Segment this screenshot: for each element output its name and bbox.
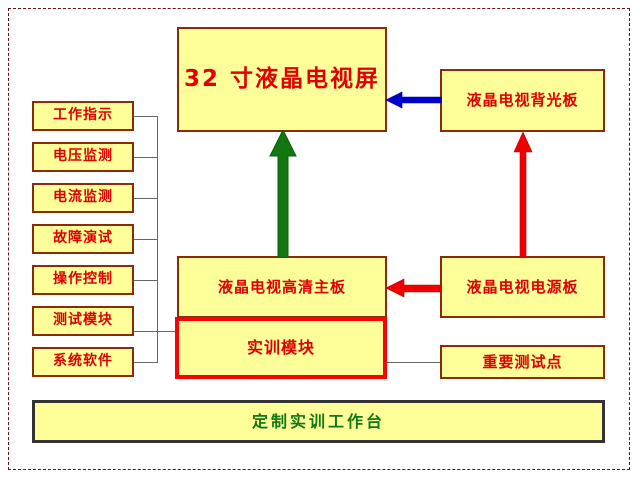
lead-sidebar-stub-1 — [134, 116, 158, 117]
sidebar-item-operation-control[interactable]: 操作控制 — [32, 265, 134, 295]
arrow-power-to-mainboard — [386, 277, 442, 299]
lead-sidebar-stub-4 — [134, 239, 158, 240]
lead-sidebar-to-training-module — [134, 331, 179, 332]
sidebar-item-voltage-monitor[interactable]: 电压监测 — [32, 142, 134, 172]
arrow-mainboard-to-screen — [268, 130, 298, 258]
node-label: 实训模块 — [247, 339, 315, 357]
sidebar-item-label: 工作指示 — [53, 108, 113, 123]
node-workbench[interactable]: 定制实训工作台 — [32, 400, 605, 443]
sidebar-item-current-monitor[interactable]: 电流监测 — [32, 183, 134, 213]
node-label: 定制实训工作台 — [252, 413, 385, 431]
lead-sidebar-stub-5 — [134, 280, 158, 281]
node-label: 液晶电视电源板 — [466, 279, 578, 296]
node-test-points[interactable]: 重要测试点 — [440, 345, 605, 379]
sidebar-item-label: 电流监测 — [53, 190, 113, 205]
node-power-board[interactable]: 液晶电视电源板 — [440, 256, 605, 318]
sidebar-item-label: 故障演试 — [53, 231, 113, 246]
node-label: 32 寸液晶电视屏 — [184, 67, 380, 92]
lead-training-module-to-test-points — [387, 362, 440, 363]
lead-sidebar-stub-7 — [134, 362, 158, 363]
sidebar-item-fault-demo[interactable]: 故障演试 — [32, 224, 134, 254]
sidebar-item-label: 电压监测 — [53, 149, 113, 164]
node-label: 液晶电视高清主板 — [218, 279, 346, 296]
lead-sidebar-stub-3 — [134, 198, 158, 199]
arrow-power-to-backlight — [512, 132, 534, 258]
node-tv-screen[interactable]: 32 寸液晶电视屏 — [177, 27, 387, 132]
lead-sidebar-spine — [157, 116, 158, 363]
sidebar-item-label: 测试模块 — [53, 313, 113, 328]
diagram-canvas: 工作指示 电压监测 电流监测 故障演试 操作控制 测试模块 系统软件 32 寸液… — [0, 0, 640, 480]
sidebar-item-label: 操作控制 — [53, 272, 113, 287]
node-backlight-board[interactable]: 液晶电视背光板 — [440, 69, 605, 132]
sidebar-item-system-software[interactable]: 系统软件 — [32, 347, 134, 377]
node-training-module[interactable]: 实训模块 — [175, 317, 387, 379]
sidebar-item-test-module[interactable]: 测试模块 — [32, 306, 134, 336]
node-label: 重要测试点 — [482, 354, 562, 371]
sidebar-item-work-indicator[interactable]: 工作指示 — [32, 101, 134, 131]
arrow-backlight-to-screen — [386, 90, 442, 110]
lead-sidebar-stub-2 — [134, 157, 158, 158]
node-label: 液晶电视背光板 — [466, 92, 578, 109]
sidebar-item-label: 系统软件 — [53, 354, 113, 369]
node-mainboard[interactable]: 液晶电视高清主板 — [177, 256, 387, 318]
